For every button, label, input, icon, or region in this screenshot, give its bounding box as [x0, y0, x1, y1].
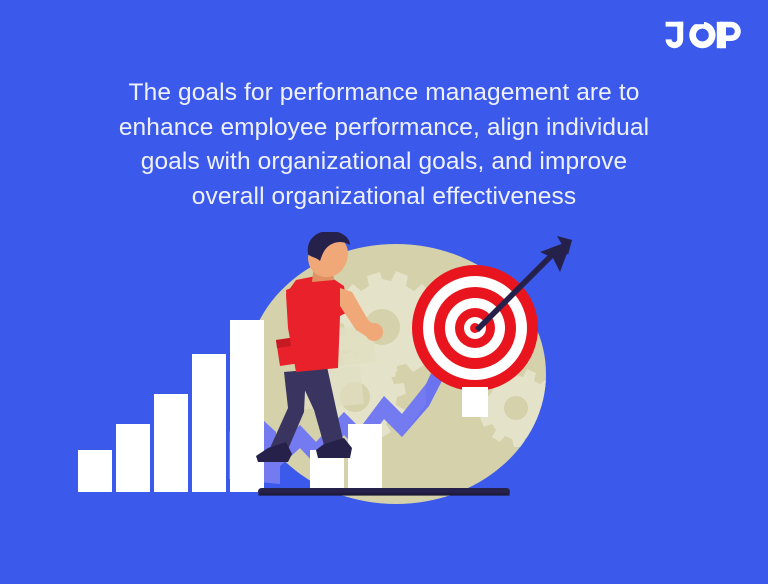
logo-letter-o [689, 20, 715, 48]
jop-logo[interactable] [664, 20, 744, 54]
goal-achievement-illustration [0, 232, 768, 522]
bar-2 [116, 424, 150, 492]
logo-letter-j [666, 22, 684, 48]
person-fist [365, 323, 383, 341]
bar-3 [154, 394, 188, 492]
bar-5 [230, 320, 264, 492]
bar-1 [78, 450, 112, 492]
headline-text: The goals for performance management are… [64, 76, 704, 214]
dartboard-stand [462, 387, 488, 417]
slide-canvas: The goals for performance management are… [0, 0, 768, 584]
bar-4 [192, 354, 226, 492]
ground-line-shadow [258, 493, 510, 496]
logo-letter-p [717, 22, 741, 48]
